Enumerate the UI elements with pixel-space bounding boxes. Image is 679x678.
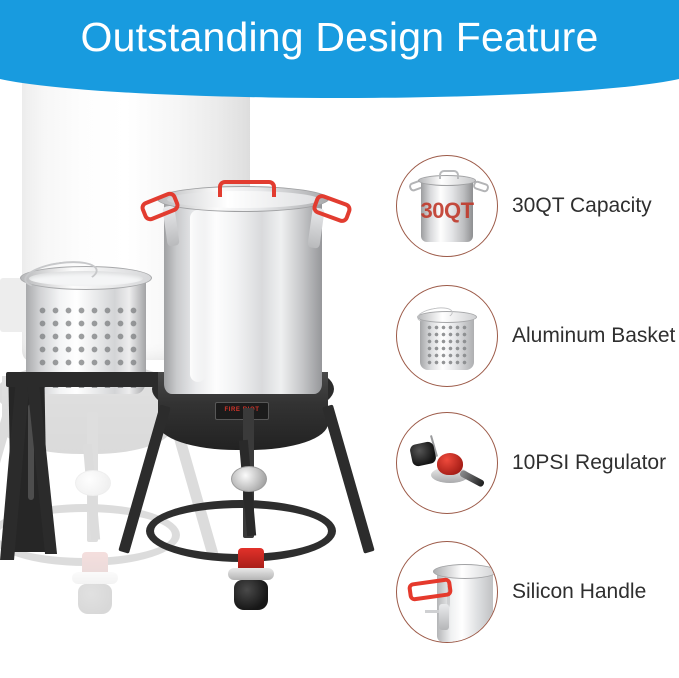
ghost-regulator-knob (78, 584, 112, 614)
product-feature-infographic: FIRE RIOT Outstanding Design Feature (0, 0, 679, 678)
feature-label-basket: Aluminum Basket (512, 324, 675, 348)
aluminum-basket-icon (396, 285, 498, 387)
basket-icon-body (420, 316, 474, 370)
regulator-plate (228, 568, 274, 580)
product-photo: FIRE RIOT (0, 0, 400, 678)
capacity-overlay-text: 30QT (397, 198, 497, 224)
feature-label-handle: Silicon Handle (512, 580, 646, 604)
pot-icon-knob (439, 170, 459, 179)
silicon-handle-icon (396, 541, 498, 643)
feature-list: 30QT 30QT Capacity Aluminum Basket (396, 150, 679, 660)
stock-pot-icon: 30QT (396, 155, 498, 257)
page-title: Outstanding Design Feature (0, 15, 679, 59)
pot-highlight (190, 210, 206, 382)
regulator-knob (234, 580, 268, 610)
regulator-icon-body (437, 453, 463, 475)
ghost-valve-wheel (75, 470, 111, 496)
feature-label-regulator: 10PSI Regulator (512, 451, 666, 475)
feature-label-capacity: 30QT Capacity (512, 194, 652, 218)
stock-pot-body (164, 196, 322, 394)
brand-label: FIRE RIOT (215, 402, 269, 420)
lid-silicon-handle (218, 180, 276, 197)
brand-label-text: FIRE RIOT (224, 407, 259, 413)
valve-wheel (231, 466, 267, 492)
feature-item-capacity: 30QT 30QT Capacity (396, 152, 679, 260)
handle-icon-pot-rim (433, 564, 497, 579)
regulator-icon-knob (409, 441, 437, 468)
feature-item-basket: Aluminum Basket (396, 282, 679, 390)
handle-icon-lug (439, 604, 449, 630)
basket-icon-perforations (426, 324, 468, 366)
header-banner: Outstanding Design Feature (0, 0, 679, 98)
ghost-regulator-plate (72, 572, 118, 584)
feature-item-handle: Silicon Handle (396, 538, 679, 646)
feature-item-regulator: 10PSI Regulator (396, 409, 679, 517)
gas-regulator-icon (396, 412, 498, 514)
